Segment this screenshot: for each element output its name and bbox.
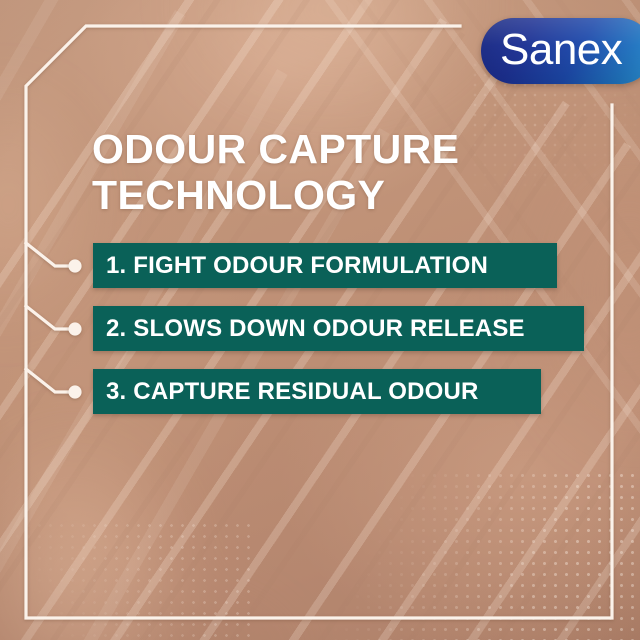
connector-line-step-2	[26, 306, 72, 329]
connector-dot-step-2	[68, 322, 81, 335]
connector-line-step-1	[26, 243, 72, 266]
infographic-canvas: Sanex ODOUR CAPTURE TECHNOLOGY 1. FIGHT …	[0, 0, 640, 640]
step-banner-3: 3. CAPTURE RESIDUAL ODOUR	[93, 369, 541, 414]
sanex-logo[interactable]: Sanex	[481, 18, 640, 84]
page-title-line-2: TECHNOLOGY	[92, 172, 562, 218]
page-title-line-1: ODOUR CAPTURE	[92, 126, 562, 172]
step-banner-1-label: 1. FIGHT ODOUR FORMULATION	[106, 254, 488, 278]
page-title: ODOUR CAPTURE TECHNOLOGY	[92, 126, 562, 219]
step-banner-3-label: 3. CAPTURE RESIDUAL ODOUR	[106, 380, 479, 404]
logo-wordmark: Sanex	[500, 28, 622, 72]
step-banner-2-label: 2. SLOWS DOWN ODOUR RELEASE	[106, 317, 525, 341]
connector-dot-step-1	[68, 259, 81, 272]
step-banner-1: 1. FIGHT ODOUR FORMULATION	[93, 243, 557, 288]
connector-line-step-3	[26, 369, 72, 392]
connector-dot-step-3	[68, 385, 81, 398]
step-banner-2: 2. SLOWS DOWN ODOUR RELEASE	[93, 306, 584, 351]
